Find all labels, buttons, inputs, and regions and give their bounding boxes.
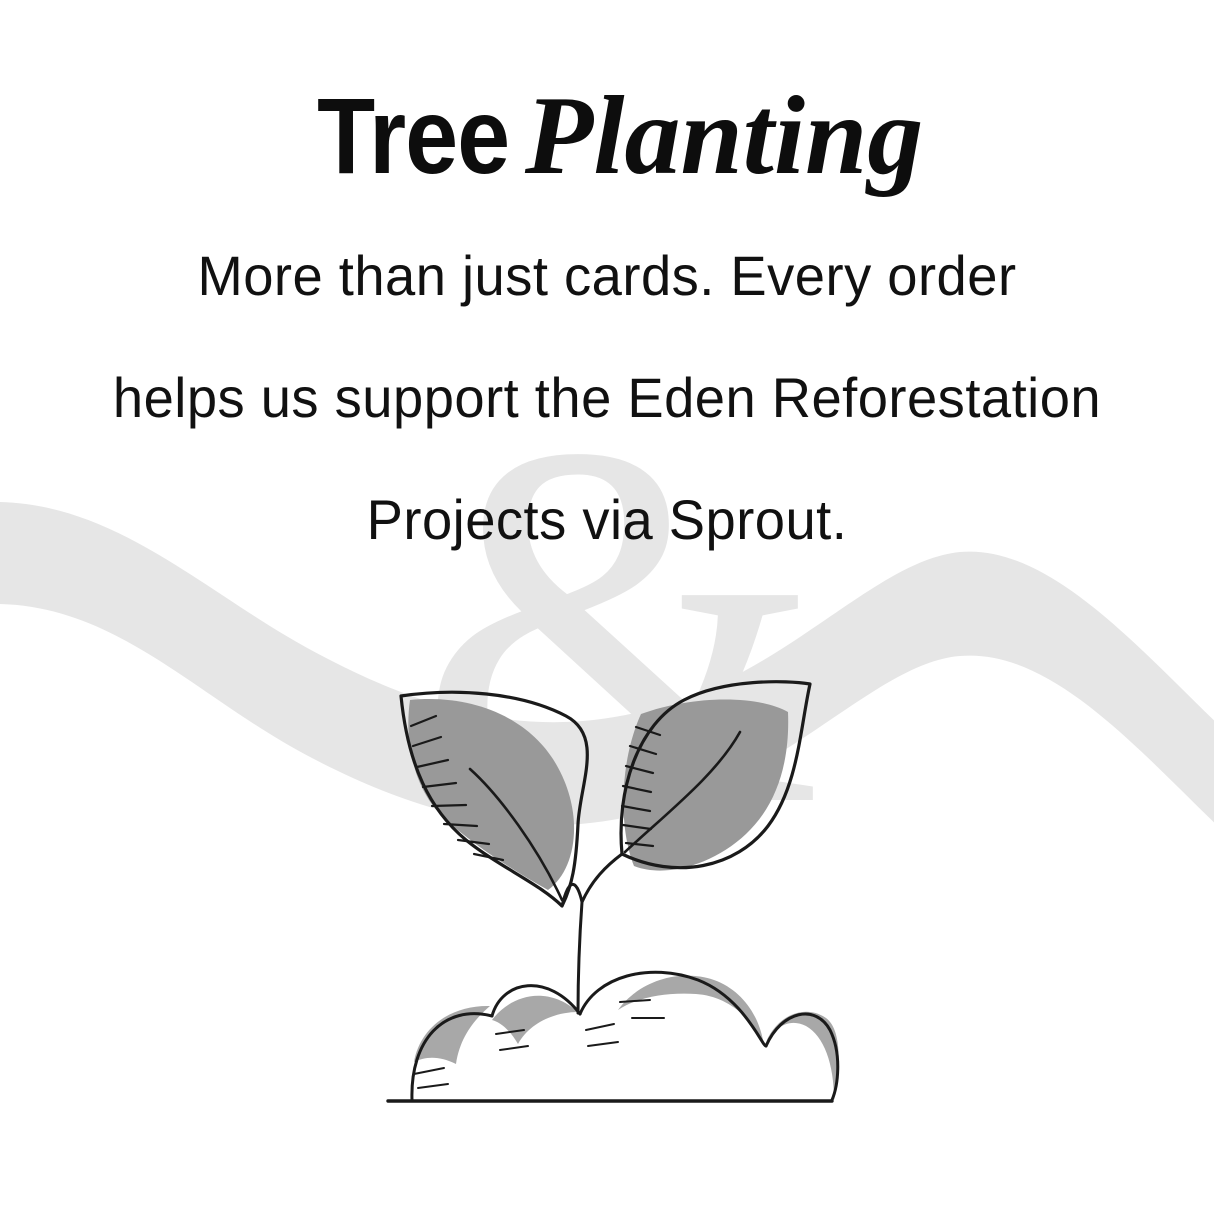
left-leaf-outline [401, 692, 587, 906]
left-leaf-vein [470, 769, 562, 900]
soil-mound [412, 972, 839, 1100]
right-leaf [621, 682, 810, 871]
soil-hatching [414, 1000, 664, 1088]
right-leaf-outline [621, 682, 810, 868]
title-word-primary: Tree [317, 82, 509, 190]
soil-outlines [412, 972, 838, 1100]
stem-fork-right [582, 854, 622, 902]
tree-planting-card: & TreePlanting More than just cards. Eve… [0, 0, 1214, 1214]
wavy-band [0, 502, 1214, 832]
right-leaf-hatching [622, 727, 660, 846]
body-copy: More than just cards. Every order helps … [0, 248, 1214, 548]
right-leaf-vein [625, 732, 740, 852]
stem [562, 854, 622, 1013]
right-leaf-fill [623, 699, 788, 870]
title-word-secondary: Planting [525, 80, 923, 192]
left-leaf [401, 692, 587, 906]
body-line-3: Projects via Sprout. [18, 492, 1196, 548]
body-line-2: helps us support the Eden Reforestation [18, 370, 1196, 426]
left-leaf-hatching [411, 716, 503, 860]
stem-main [578, 902, 582, 1013]
body-line-1: More than just cards. Every order [18, 248, 1196, 304]
soil-shading [414, 976, 839, 1100]
left-leaf-fill [408, 699, 574, 890]
stem-fork-left [562, 884, 582, 906]
page-title: TreePlanting [0, 80, 1214, 192]
